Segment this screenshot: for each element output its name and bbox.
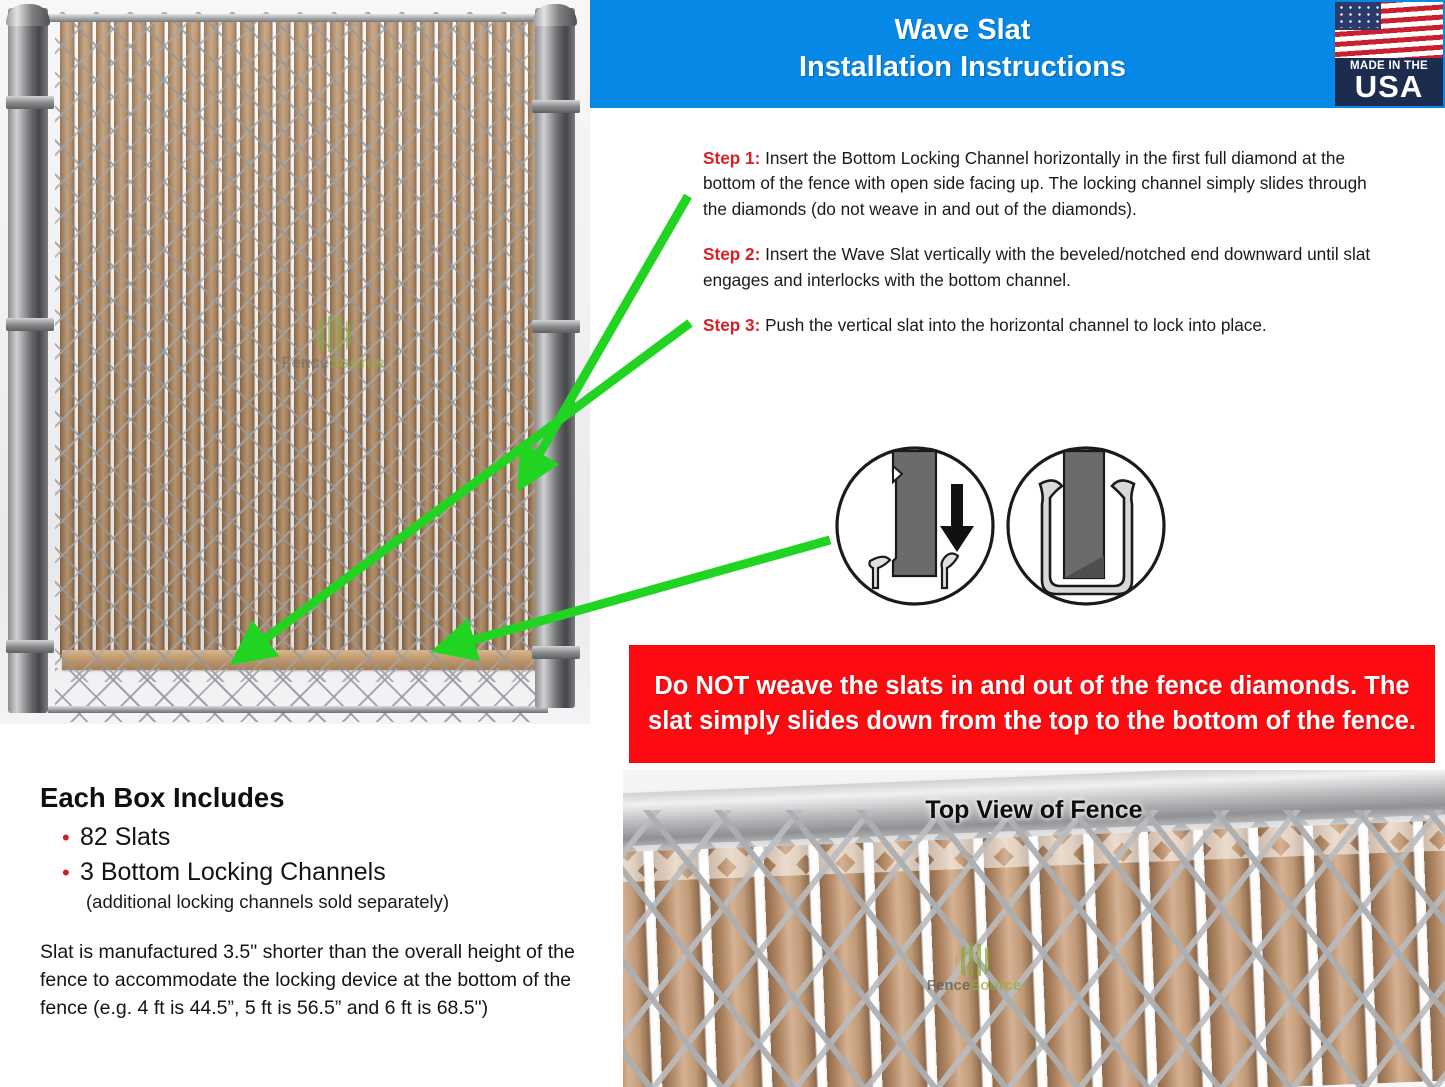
box-includes-title: Each Box Includes	[40, 782, 600, 814]
post-band-right-bottom	[532, 646, 580, 659]
american-flag-icon	[1335, 2, 1443, 58]
top-view-photo: Top View of Fence FenceSource	[623, 770, 1445, 1087]
post-band-left-mid	[6, 318, 54, 331]
title-line-1: Wave Slat	[590, 12, 1335, 49]
topview-watermark-text-b: Source	[970, 977, 1021, 994]
detail-circle-locked	[1008, 448, 1164, 604]
made-in-usa-badge: MADE IN THE USA	[1335, 2, 1443, 106]
step-3-paragraph: Step 3: Push the vertical slat into the …	[703, 313, 1393, 338]
slat-body	[893, 451, 936, 576]
installation-steps: Step 1: Insert the Bottom Locking Channe…	[703, 146, 1393, 338]
chain-link-mesh	[55, 12, 545, 682]
slat-measurement-paragraph: Slat is manufactured 3.5" shorter than t…	[40, 938, 600, 1022]
do-not-weave-warning: Do NOT weave the slats in and out of the…	[629, 645, 1435, 763]
step-2-label: Step 2:	[703, 244, 760, 264]
post-band-left-top	[6, 96, 54, 109]
list-item: 3 Bottom Locking Channels	[62, 855, 600, 890]
step-2-paragraph: Step 2: Insert the Wave Slat vertically …	[703, 242, 1393, 293]
post-band-left-bottom	[6, 640, 54, 653]
slat-body-locked	[1064, 451, 1104, 578]
fence-post-right	[535, 8, 575, 708]
chain-link-mesh-bottom	[55, 668, 545, 722]
detail-circle-insert	[837, 448, 993, 604]
page-title: Wave Slat Installation Instructions	[590, 12, 1445, 86]
post-band-right-top	[532, 100, 580, 113]
step-1-paragraph: Step 1: Insert the Bottom Locking Channe…	[703, 146, 1393, 222]
header-bar: Wave Slat Installation Instructions MADE…	[590, 0, 1445, 108]
warning-text: Do NOT weave the slats in and out of the…	[629, 669, 1435, 739]
fence-top-rail	[48, 14, 548, 22]
topview-watermark-text-a: Fence	[927, 977, 970, 994]
topview-fencesource-watermark: FenceSource	[909, 940, 1039, 994]
step-3-label: Step 3:	[703, 315, 760, 335]
step-2-text: Insert the Wave Slat vertically with the…	[703, 244, 1370, 289]
step-1-label: Step 1:	[703, 148, 760, 168]
list-item: 82 Slats	[62, 820, 600, 855]
fence-bottom-rail	[48, 706, 548, 713]
step-1-text: Insert the Bottom Locking Channel horizo…	[703, 148, 1367, 219]
each-box-includes-section: Each Box Includes 82 Slats 3 Bottom Lock…	[40, 782, 600, 1022]
top-view-label: Top View of Fence	[623, 796, 1445, 825]
flag-canton	[1335, 2, 1381, 30]
step-3-text: Push the vertical slat into the horizont…	[760, 315, 1266, 335]
box-includes-note: (additional locking channels sold separa…	[86, 891, 600, 913]
title-line-2: Installation Instructions	[590, 49, 1335, 86]
box-includes-list: 82 Slats 3 Bottom Locking Channels	[40, 820, 600, 890]
fence-installation-photo: FenceSource	[0, 0, 590, 724]
fence-logo-icon	[953, 940, 995, 976]
post-band-right-mid	[532, 320, 580, 333]
lock-detail-diagram	[828, 436, 1178, 616]
fence-post-left	[8, 8, 48, 713]
badge-line-2: USA	[1335, 70, 1443, 104]
